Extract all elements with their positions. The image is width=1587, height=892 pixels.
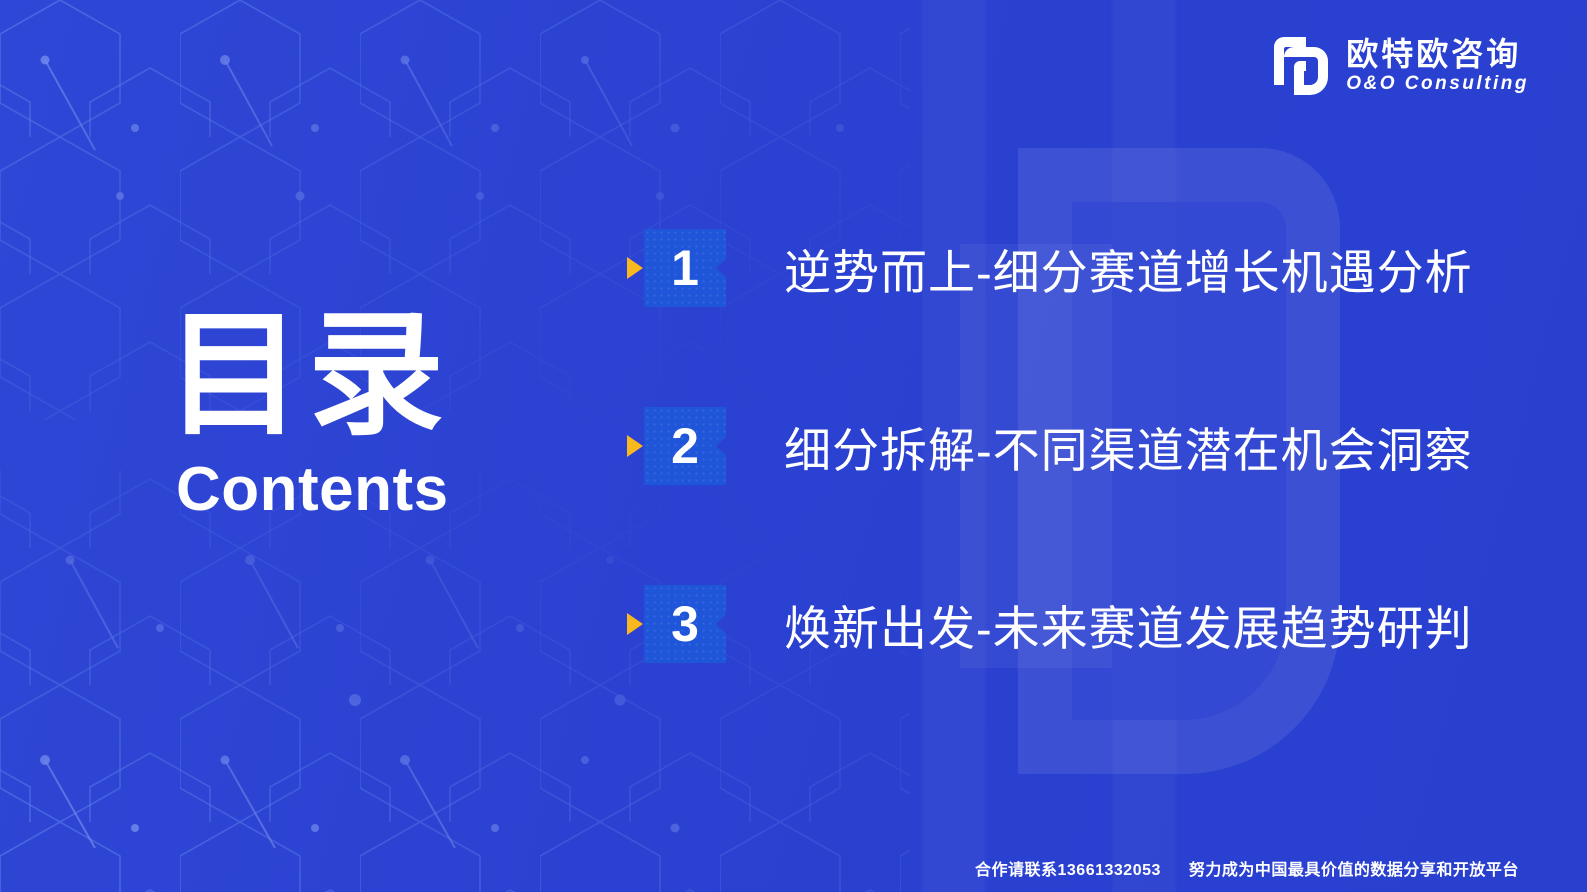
presentation-slide: 欧特欧咨询 O&O Consulting 目录 Contents 1 逆势而上-… bbox=[0, 0, 1587, 892]
toc-number-badge: 2 bbox=[644, 407, 726, 485]
toc-item-1[interactable]: 1 逆势而上-细分赛道增长机遇分析 bbox=[625, 228, 1525, 308]
toc-number-badge: 3 bbox=[644, 585, 726, 663]
table-of-contents: 1 逆势而上-细分赛道增长机遇分析 2 细分拆解-不同渠道潜在机会洞察 3 焕新… bbox=[625, 228, 1525, 664]
title-chinese: 目录 bbox=[166, 306, 586, 445]
toc-item-2[interactable]: 2 细分拆解-不同渠道潜在机会洞察 bbox=[625, 406, 1525, 486]
logo-company-en: O&O Consulting bbox=[1346, 74, 1529, 94]
footer-tagline: 努力成为中国最具价值的数据分享和开放平台 bbox=[1189, 856, 1519, 880]
brand-logo: 欧特欧咨询 O&O Consulting bbox=[1270, 33, 1529, 99]
toc-item-3[interactable]: 3 焕新出发-未来赛道发展趋势研判 bbox=[625, 584, 1525, 664]
toc-number: 1 bbox=[671, 243, 699, 293]
toc-label: 逆势而上-细分赛道增长机遇分析 bbox=[784, 234, 1473, 303]
footer-contact: 合作请联系13661332053 bbox=[975, 856, 1161, 880]
oo-logo-mark-icon bbox=[1270, 33, 1332, 99]
slide-footer: 合作请联系13661332053 努力成为中国最具价值的数据分享和开放平台 bbox=[975, 856, 1519, 880]
page-title: 目录 Contents bbox=[166, 306, 586, 522]
logo-company-cn: 欧特欧咨询 bbox=[1346, 38, 1529, 72]
logo-text: 欧特欧咨询 O&O Consulting bbox=[1346, 38, 1529, 94]
toc-label: 焕新出发-未来赛道发展趋势研判 bbox=[784, 590, 1473, 659]
title-english: Contents bbox=[176, 457, 586, 522]
triangle-marker-icon bbox=[627, 435, 643, 457]
toc-number-badge: 1 bbox=[644, 229, 726, 307]
triangle-marker-icon bbox=[627, 613, 643, 635]
toc-label: 细分拆解-不同渠道潜在机会洞察 bbox=[784, 412, 1473, 481]
triangle-marker-icon bbox=[627, 257, 643, 279]
toc-number: 3 bbox=[671, 599, 699, 649]
toc-number: 2 bbox=[671, 421, 699, 471]
